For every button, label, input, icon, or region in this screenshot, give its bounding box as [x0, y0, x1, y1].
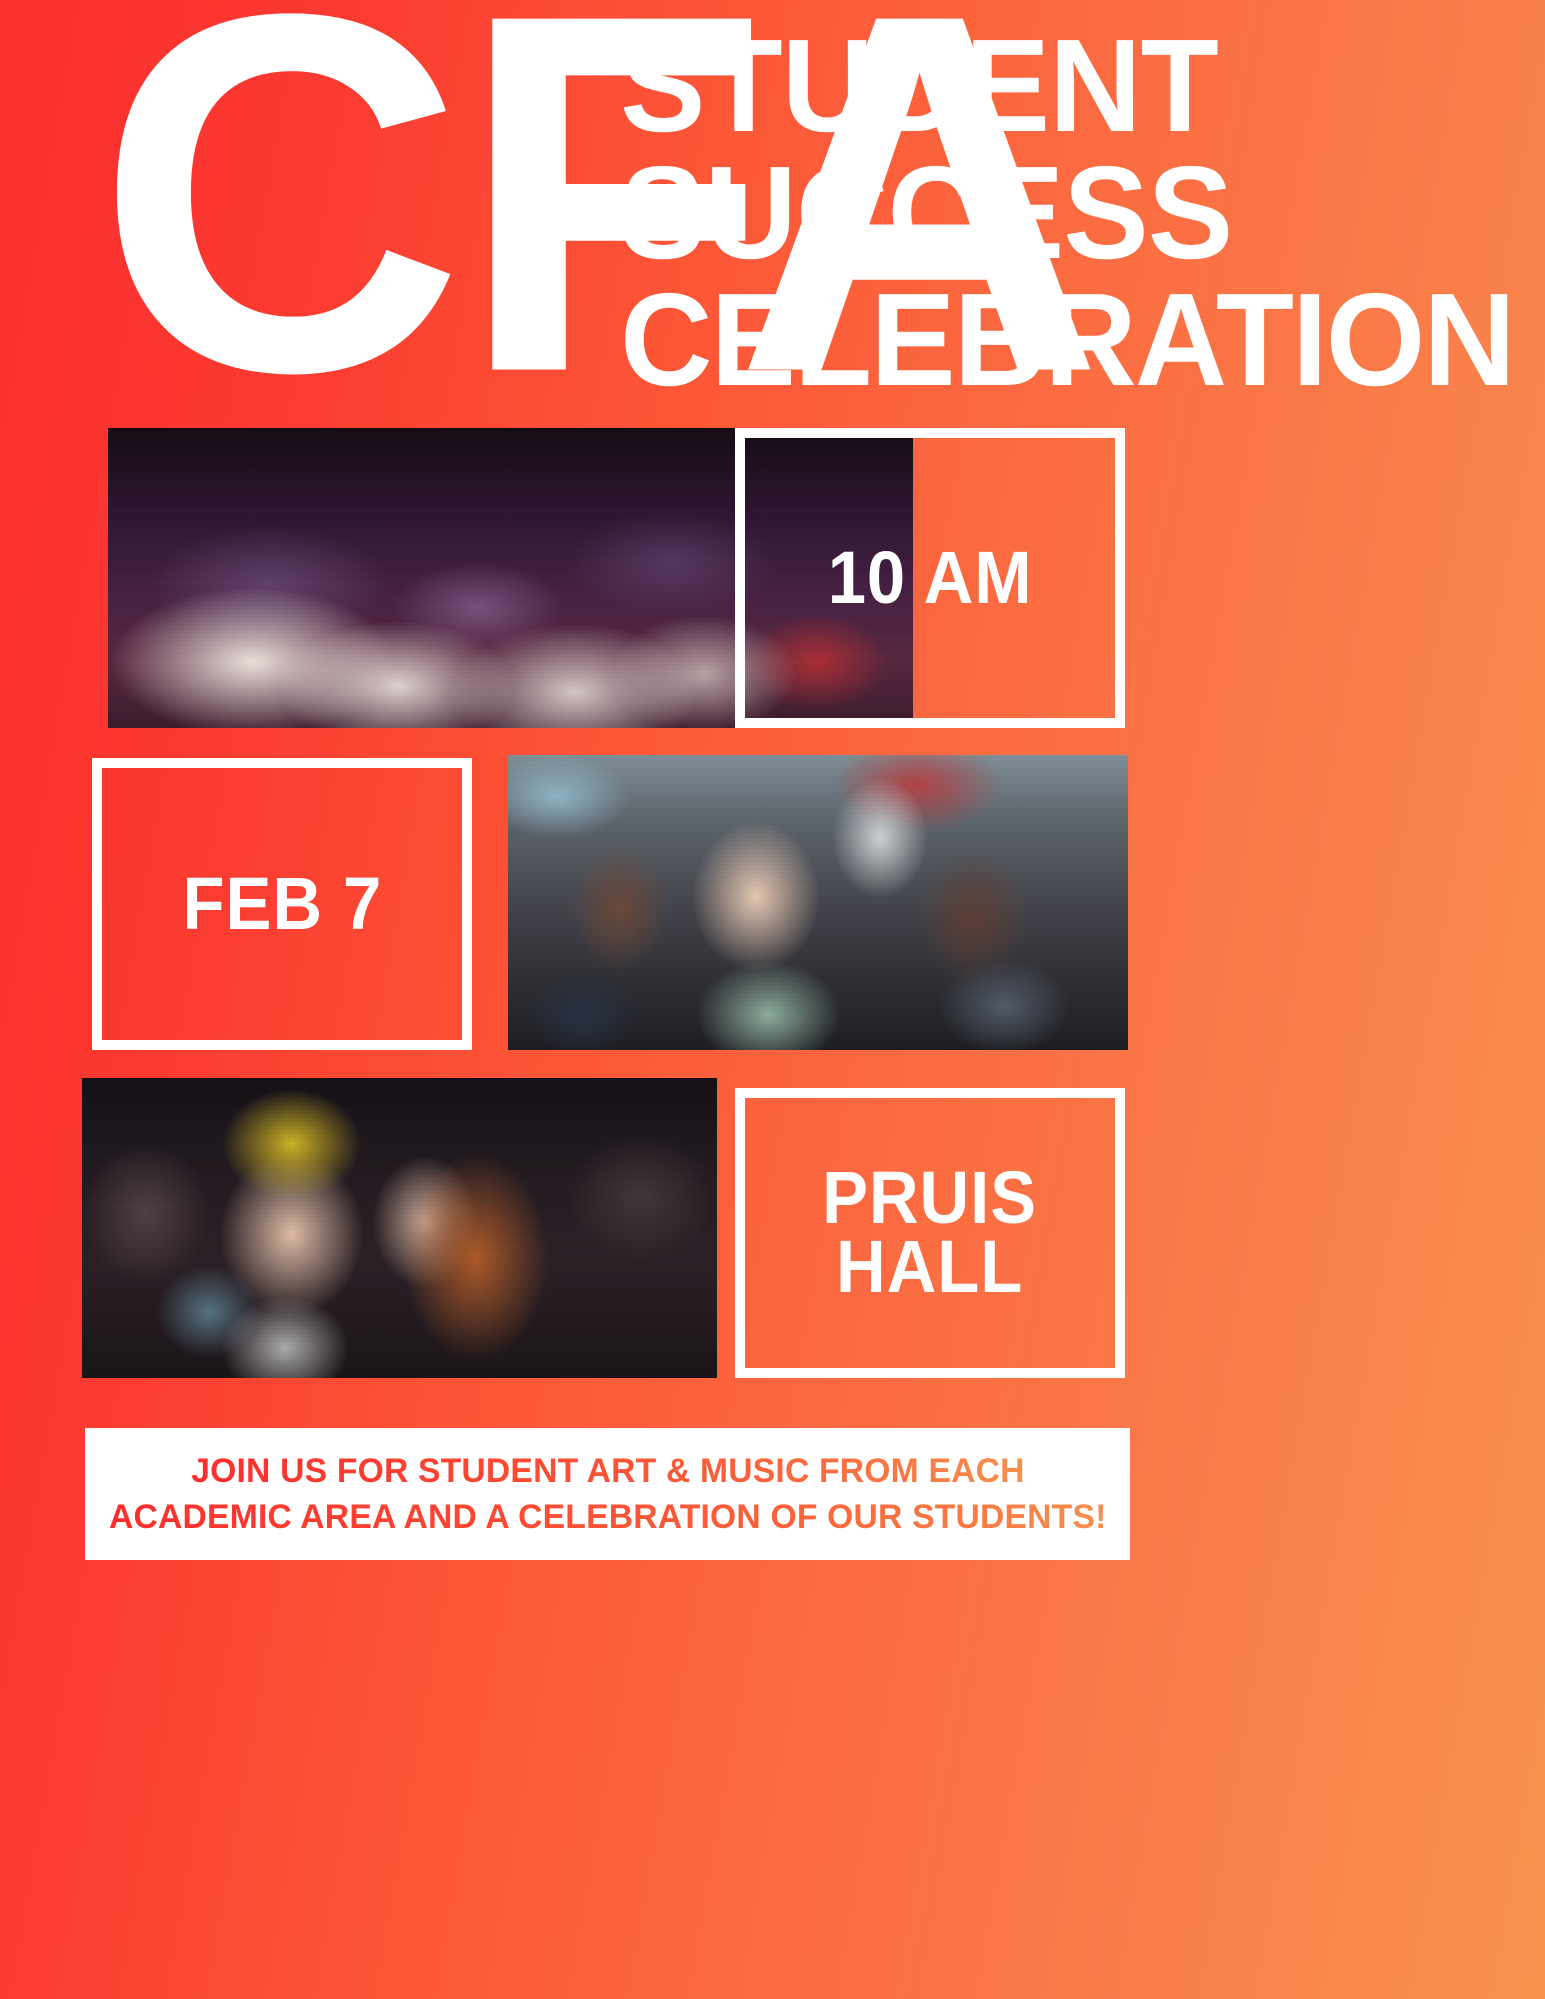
info-box-venue: PRUIS HALL: [735, 1088, 1125, 1378]
venue-label: PRUIS HALL: [823, 1164, 1038, 1302]
info-box-time: 10 AM: [735, 428, 1125, 728]
info-box-date: FEB 7: [92, 758, 472, 1050]
time-label: 10 AM: [828, 544, 1033, 613]
banner-line-1: JOIN US FOR STUDENT ART & MUSIC FROM EAC…: [191, 1448, 1024, 1494]
photo-students-clapping: [508, 755, 1128, 1050]
banner-line-2: ACADEMIC AREA AND A CELEBRATION OF OUR S…: [109, 1494, 1106, 1540]
photo-two-friends-art: [82, 1078, 717, 1378]
event-title-line-2: SUCCESS: [620, 149, 1163, 276]
event-title-line-3: CELEBRATION: [620, 276, 1163, 403]
poster-canvas: CFA STUDENT SUCCESS CELEBRATION 10 AM FE…: [0, 0, 1545, 1999]
photo-two-friends: [82, 1078, 717, 1378]
photo-students-clapping-art: [508, 755, 1128, 1050]
event-title-stack: STUDENT SUCCESS CELEBRATION: [620, 22, 1180, 403]
date-label: FEB 7: [182, 870, 382, 939]
venue-label-line-2: HALL: [836, 1225, 1023, 1308]
poster-header: CFA STUDENT SUCCESS CELEBRATION: [0, 0, 1545, 410]
call-to-action-banner: JOIN US FOR STUDENT ART & MUSIC FROM EAC…: [85, 1428, 1130, 1560]
event-title-line-1: STUDENT: [620, 22, 1163, 149]
